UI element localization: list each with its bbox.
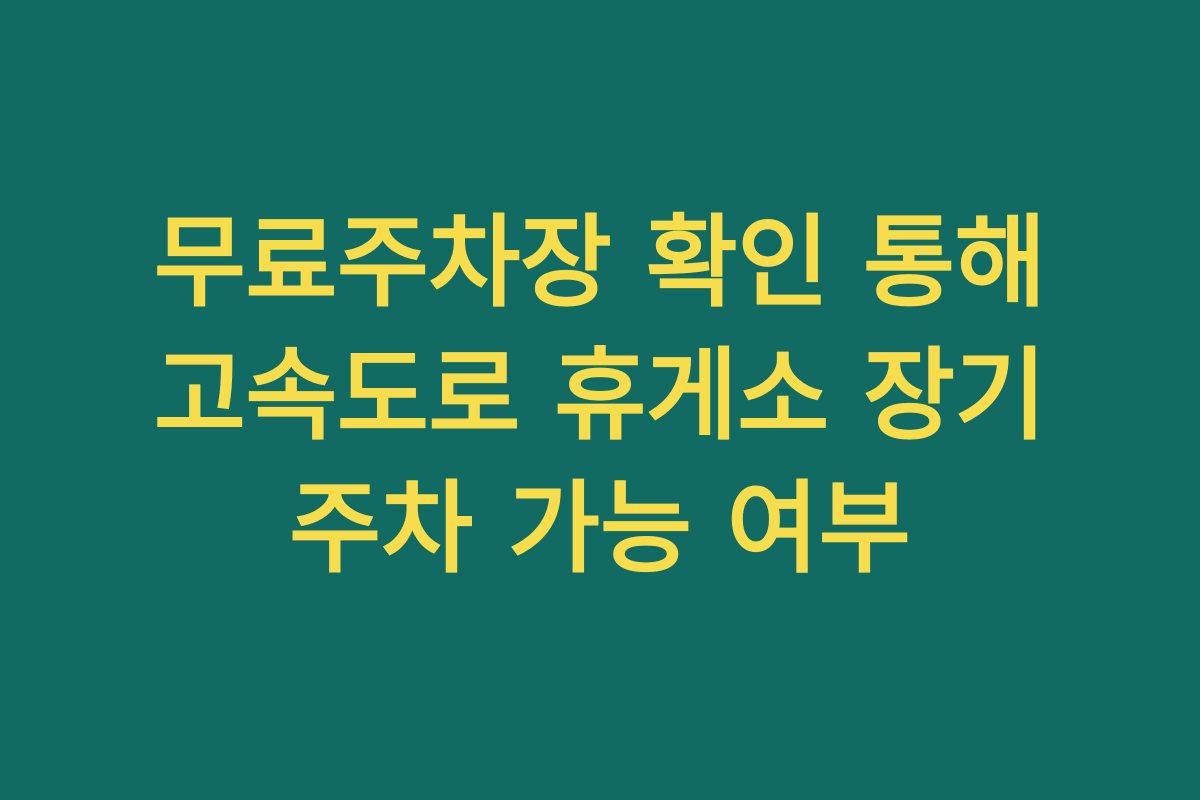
thumbnail-card: 무료주차장 확인 통해 고속도로 휴게소 장기 주차 가능 여부 xyxy=(0,0,1200,800)
headline-line-2: 고속도로 휴게소 장기 xyxy=(154,329,1046,462)
headline-line-3: 주차 가능 여부 xyxy=(289,462,911,595)
headline-block: 무료주차장 확인 통해 고속도로 휴게소 장기 주차 가능 여부 xyxy=(0,196,1200,595)
headline-line-1: 무료주차장 확인 통해 xyxy=(154,196,1046,329)
